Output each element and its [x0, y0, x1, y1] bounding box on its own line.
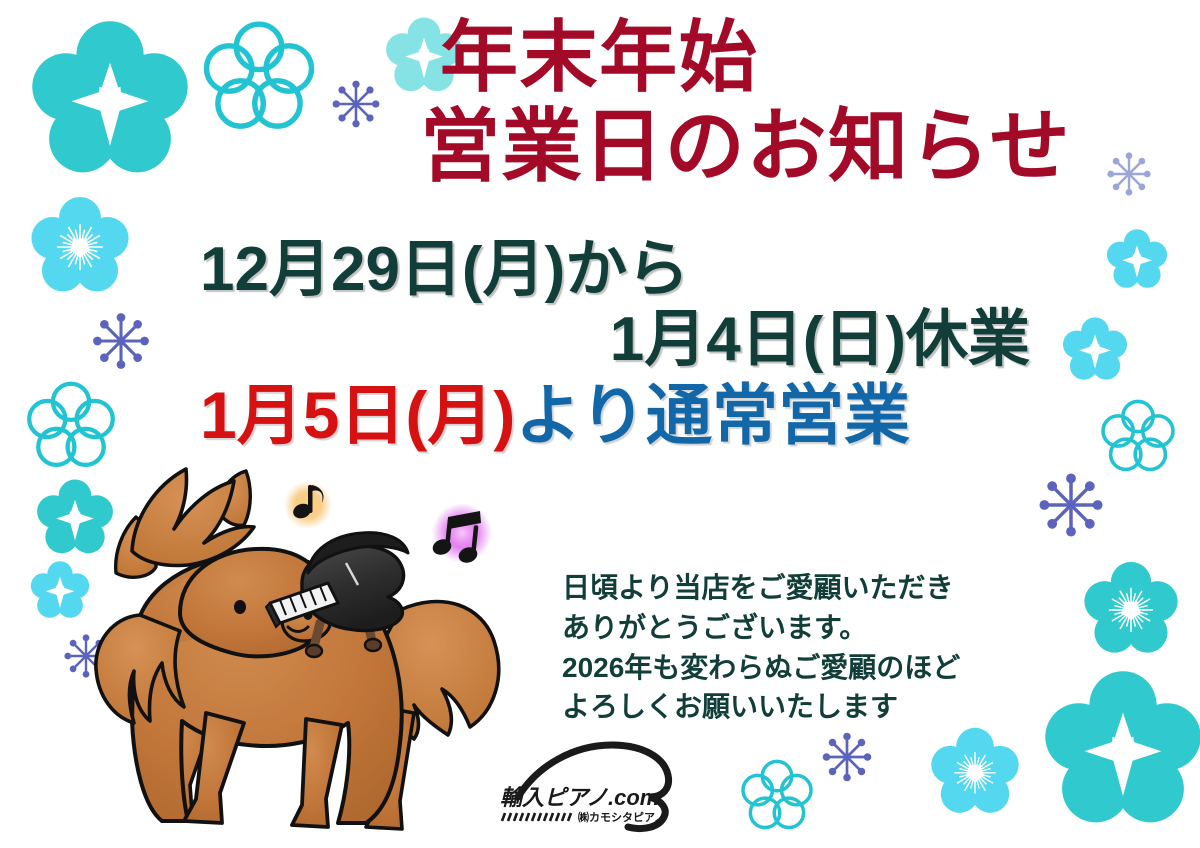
reopen-status: より通常営業: [515, 378, 910, 452]
new-year-hours-notice-poster: 年末年始 営業日のお知らせ 12月29日(月)から 1月4日(日)休業 1月5日…: [0, 0, 1200, 848]
flower-filled-star-0: [30, 18, 190, 178]
message-line-1: 日頃より当店をご愛顧いただき: [562, 568, 960, 608]
business-dates-block: 12月29日(月)から 1月4日(日)休業 1月5日(月)より通常営業: [200, 238, 1030, 450]
music-note-double: [431, 503, 492, 565]
flower-outline-13: [1102, 400, 1174, 472]
horse-eye: [234, 600, 246, 614]
flower-filled-star-12: [1062, 316, 1128, 382]
snowflake-18: [820, 730, 874, 784]
flower-filled-burst-4: [30, 195, 130, 295]
flower-filled-star-17: [1043, 668, 1200, 828]
closure-end-date: 1月4日(日)休業: [200, 308, 1030, 372]
message-line-4: よろしくお願いいたします: [562, 687, 960, 727]
horse-with-piano-illustration: [70, 455, 550, 848]
reopen-date-line: 1月5日(月)より通常営業: [200, 381, 1030, 450]
thank-you-message: 日頃より当店をご愛顧いただき ありがとうございます。 2026年も変わらぬご愛顧…: [562, 568, 960, 727]
snowflake-2: [330, 78, 382, 130]
flower-filled-star-11: [1106, 228, 1168, 290]
message-line-2: ありがとうございます。: [562, 608, 960, 648]
logo-company-name: ㈱カモシタピアノ: [578, 810, 665, 824]
closure-start-date: 12月29日(月)から: [200, 238, 1030, 302]
snowflake-5: [90, 310, 152, 372]
message-line-3: 2026年も変わらぬご愛顧のほど: [562, 648, 960, 688]
poster-title: 年末年始 営業日のお知らせ: [420, 18, 1140, 187]
flower-outline-1: [205, 22, 313, 130]
company-logo[interactable]: 輸入ピアノ.com ㈱カモシタピアノ: [496, 735, 686, 835]
flower-filled-burst-16: [930, 726, 1020, 816]
flower-outline-19: [742, 760, 812, 830]
snowflake-14: [1036, 470, 1106, 540]
title-line-2: 営業日のお知らせ: [420, 106, 1140, 188]
flower-filled-burst-15: [1083, 560, 1179, 656]
logo-wordmark: 輸入ピアノ.com: [500, 785, 659, 810]
music-note-single: [284, 481, 332, 529]
title-line-1: 年末年始: [440, 18, 1140, 98]
reopen-date: 1月5日(月): [200, 378, 515, 452]
